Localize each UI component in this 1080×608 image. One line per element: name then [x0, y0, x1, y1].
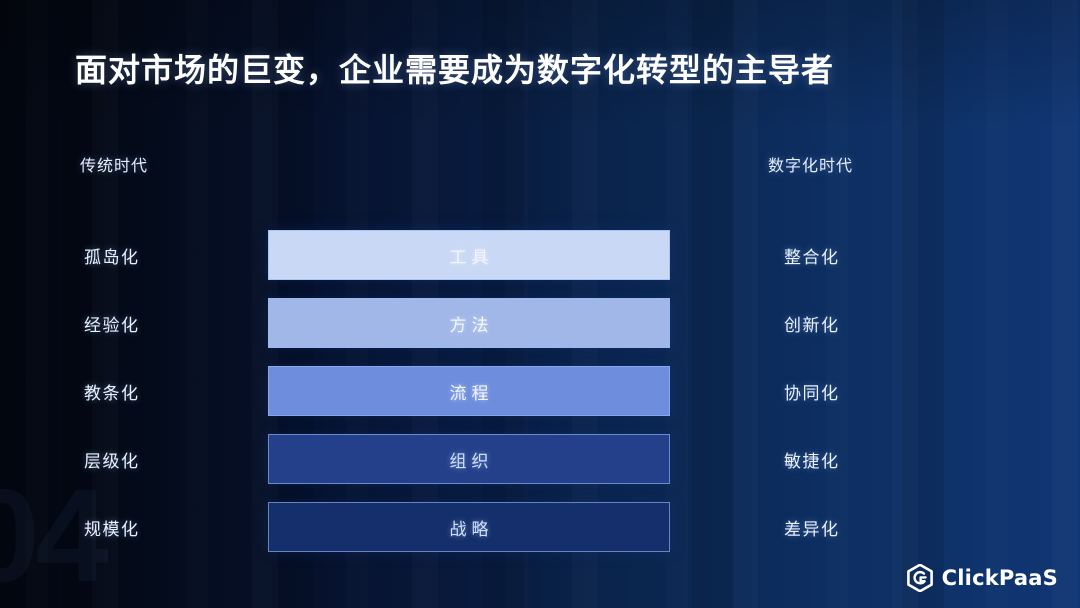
layer-bar: 方法 — [268, 298, 670, 348]
list-item: 孤岛化 — [84, 230, 254, 280]
list-item: 经验化 — [84, 298, 254, 348]
list-item: 协同化 — [784, 366, 954, 416]
brand-logo-text: ClickPaaS — [942, 566, 1058, 590]
layer-bar: 工具 — [268, 230, 670, 280]
traditional-label-column: 孤岛化 经验化 教条化 层级化 规模化 — [84, 230, 254, 552]
slide-canvas: 04 面对市场的巨变，企业需要成为数字化转型的主导者 传统时代 数字化时代 孤岛… — [0, 0, 1080, 608]
layer-bar: 流程 — [268, 366, 670, 416]
list-item: 层级化 — [84, 434, 254, 484]
page-title: 面对市场的巨变，企业需要成为数字化转型的主导者 — [75, 45, 834, 91]
layer-bar-label: 方法 — [445, 311, 494, 336]
list-item: 差异化 — [784, 502, 954, 552]
layer-bar: 组织 — [268, 434, 670, 484]
list-item: 敏捷化 — [784, 434, 954, 484]
list-item: 创新化 — [784, 298, 954, 348]
list-item: 规模化 — [84, 502, 254, 552]
layer-bar-label: 流程 — [445, 379, 494, 404]
clickpaas-hexagon-icon — [907, 564, 933, 592]
column-header-traditional: 传统时代 — [80, 152, 148, 176]
list-item: 教条化 — [84, 366, 254, 416]
list-item: 整合化 — [784, 230, 954, 280]
brand-logo: ClickPaaS — [907, 564, 1058, 592]
layer-bar-label: 组织 — [445, 447, 494, 472]
column-header-digital: 数字化时代 — [768, 152, 853, 176]
transformation-layer-bars: 工具 方法 流程 组织 战略 — [268, 230, 670, 552]
layer-bar-label: 工具 — [445, 243, 494, 268]
digital-label-column: 整合化 创新化 协同化 敏捷化 差异化 — [784, 230, 954, 552]
layer-bar-label: 战略 — [445, 515, 494, 540]
layer-bar: 战略 — [268, 502, 670, 552]
